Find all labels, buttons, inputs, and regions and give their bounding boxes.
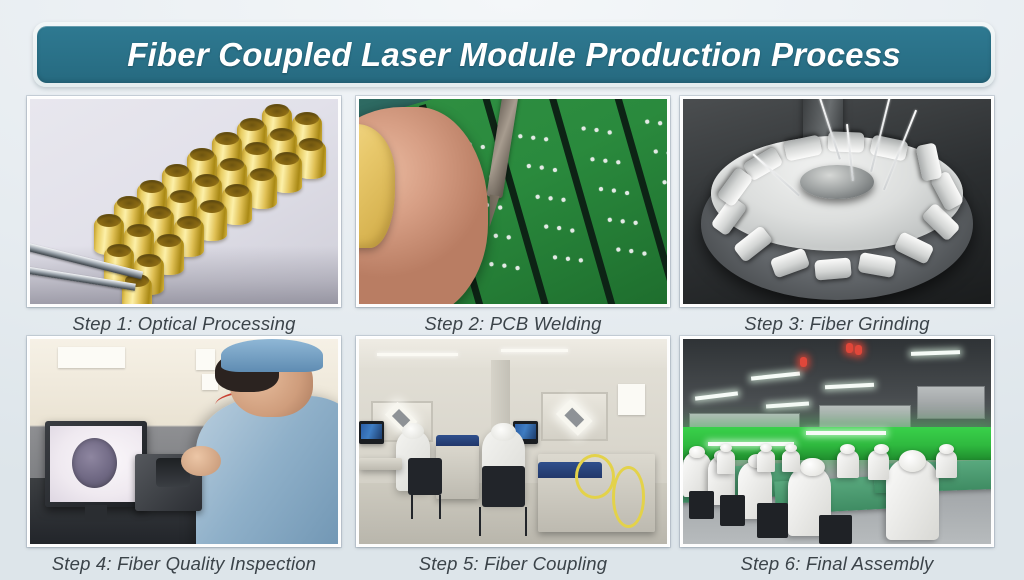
yellow-fiber-coil-2 — [612, 466, 646, 528]
step-card-2[interactable]: Step 2: PCB Welding — [356, 96, 670, 335]
step-3-photo-frame[interactable] — [680, 96, 994, 307]
step-5-photo — [359, 339, 667, 544]
title-banner: Fiber Coupled Laser Module Production Pr… — [33, 22, 995, 87]
inspection-monitor — [45, 421, 147, 507]
worker-body — [196, 396, 338, 544]
monitor-stand — [85, 505, 107, 521]
step-3-caption: Step 3: Fiber Grinding — [680, 307, 994, 335]
center-hub — [800, 165, 874, 200]
step-1-photo-frame[interactable] — [27, 96, 341, 307]
fiber-endface-image — [72, 438, 117, 488]
step-6-photo-frame[interactable] — [680, 336, 994, 547]
steps-row-1: Step 1: Optical Processing — [0, 96, 1024, 336]
step-card-6[interactable]: Step 6: Final Assembly — [680, 336, 994, 575]
worker-hand — [181, 446, 221, 477]
steps-row-2: Step 4: Fiber Quality Inspection — [0, 336, 1024, 576]
station-monitor-left — [359, 421, 384, 444]
worker-cap — [221, 339, 323, 372]
coupling-machine-left-top — [436, 435, 479, 445]
side-table — [359, 458, 402, 470]
step-card-1[interactable]: Step 1: Optical Processing — [27, 96, 341, 335]
page-title: Fiber Coupled Laser Module Production Pr… — [127, 36, 901, 74]
step-card-4[interactable]: Step 4: Fiber Quality Inspection — [27, 336, 341, 575]
step-2-caption: Step 2: PCB Welding — [356, 307, 670, 335]
step-4-photo — [30, 339, 338, 544]
monitor-screen — [50, 426, 142, 502]
chair-right — [482, 466, 525, 507]
latex-glove — [359, 124, 395, 248]
steps-grid: Step 1: Optical Processing — [0, 96, 1024, 576]
overhead-cabinet-right — [917, 386, 985, 419]
step-5-photo-frame[interactable] — [356, 336, 670, 547]
step-2-photo-frame[interactable] — [356, 96, 670, 307]
yellow-fiber-coil — [575, 454, 615, 499]
chair-left — [408, 458, 442, 495]
step-1-caption: Step 1: Optical Processing — [27, 307, 341, 335]
step-4-caption: Step 4: Fiber Quality Inspection — [27, 547, 341, 575]
step-6-caption: Step 6: Final Assembly — [680, 547, 994, 575]
step-3-photo — [683, 99, 991, 304]
step-5-caption: Step 5: Fiber Coupling — [356, 547, 670, 575]
step-2-photo — [359, 99, 667, 304]
title-banner-inner: Fiber Coupled Laser Module Production Pr… — [37, 26, 991, 83]
step-card-3[interactable]: Step 3: Fiber Grinding — [680, 96, 994, 335]
step-1-photo — [30, 99, 338, 304]
coupling-machine-left — [436, 442, 479, 499]
step-4-photo-frame[interactable] — [27, 336, 341, 547]
step-6-photo — [683, 339, 991, 544]
step-card-5[interactable]: Step 5: Fiber Coupling — [356, 336, 670, 575]
operator-left-hood — [402, 423, 424, 439]
